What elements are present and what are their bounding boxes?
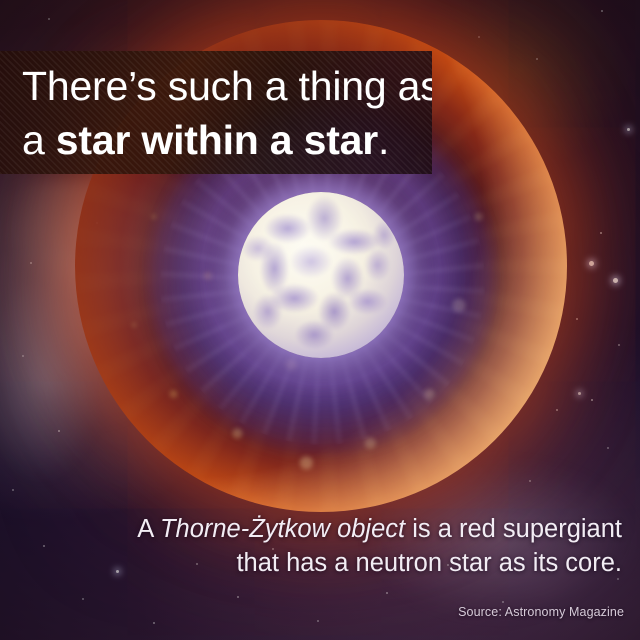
headline-line-2-prefix: a bbox=[22, 117, 56, 163]
neutron-star-core bbox=[238, 192, 404, 358]
headline-plate: There’s such a thing as a star within a … bbox=[0, 51, 432, 174]
source-credit: Source: Astronomy Magazine bbox=[458, 605, 624, 619]
headline-line-1-text: There’s such a thing as bbox=[22, 63, 432, 109]
infographic-poster: There’s such a thing as a star within a … bbox=[0, 0, 640, 640]
caption: A Thorne-Żytkow object is a red supergia… bbox=[60, 512, 622, 580]
headline-line-2-suffix: . bbox=[378, 117, 389, 163]
caption-line-1: A Thorne-Żytkow object is a red supergia… bbox=[60, 512, 622, 546]
caption-term-thorne-zytkow-object: Thorne-Żytkow object bbox=[160, 515, 405, 543]
headline-line-2-emphasis: star within a star bbox=[56, 117, 378, 163]
core-shading bbox=[238, 192, 404, 358]
headline-line-1: There’s such a thing as bbox=[22, 59, 422, 113]
caption-line-2: that has a neutron star as its core. bbox=[60, 546, 622, 580]
headline: There’s such a thing as a star within a … bbox=[22, 59, 422, 167]
caption-line-1-suffix: is a red supergiant bbox=[405, 515, 622, 543]
headline-line-2: a star within a star. bbox=[22, 113, 422, 167]
caption-line-1-prefix: A bbox=[137, 515, 160, 543]
